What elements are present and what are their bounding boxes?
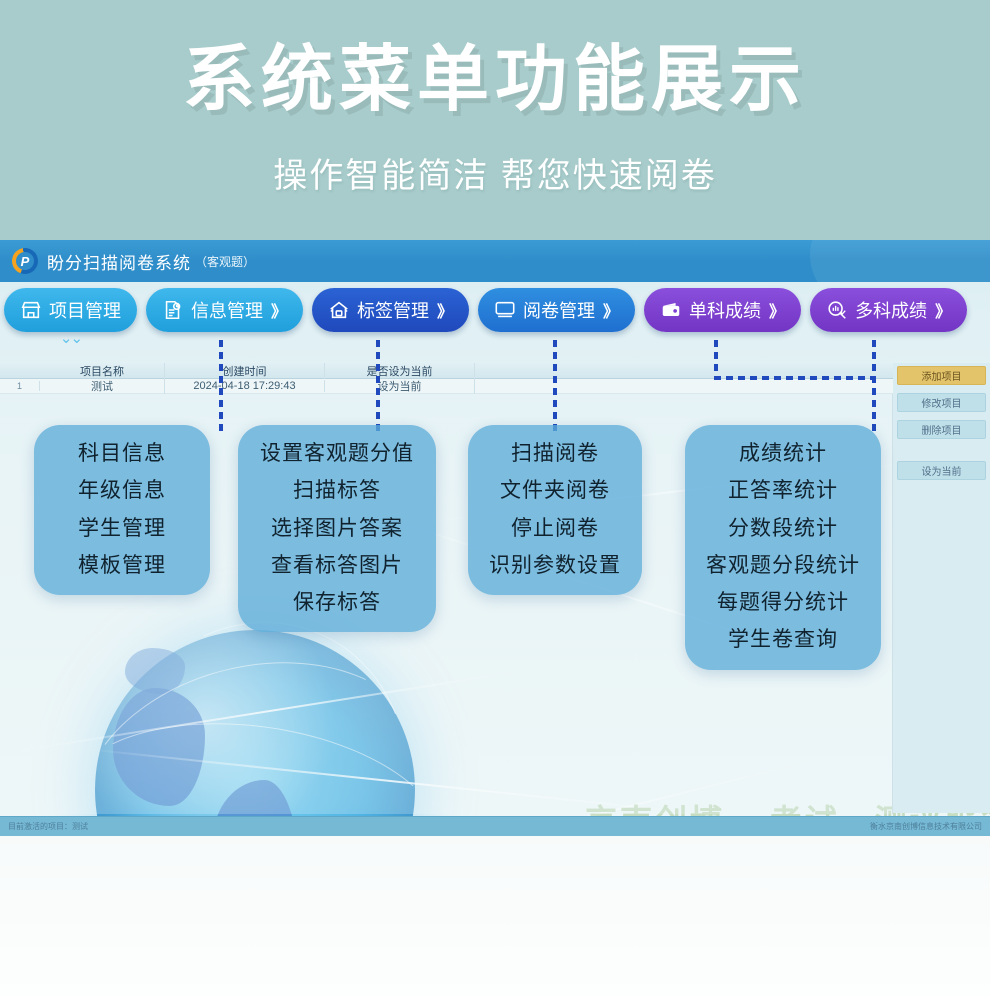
marking-menu: 扫描阅卷 文件夹阅卷 停止阅卷 识别参数设置 [468,425,642,595]
menu-item[interactable]: 查看标答图片 [271,553,403,579]
tab-label: 阅卷管理 [523,297,595,323]
status-bar: 目前激活的项目：测试 衡水京南创博信息技术有限公司 [0,816,990,836]
row-created-time: 2024-04-18 17:29:43 [165,380,325,392]
status-active-project: 目前激活的项目：测试 [8,821,88,832]
menu-item[interactable]: 客观题分段统计 [706,553,860,579]
project-info-menu: 科目信息 年级信息 学生管理 模板管理 [34,425,210,595]
menu-item[interactable]: 保存标答 [293,590,381,616]
connector-line-tag [376,340,380,432]
row-index: 1 [0,381,40,391]
menu-item[interactable]: 学生管理 [78,516,166,542]
chevron-double-down-icon: ⌄⌄ [60,331,81,346]
row-project-name: 测试 [40,378,165,394]
connector-line-horizontal [714,376,876,380]
tab-label: 信息管理 [191,297,263,323]
wallet-icon [660,299,682,321]
menu-item[interactable]: 停止阅卷 [511,516,599,542]
tab-label: 单科成绩 [689,297,761,323]
monitor-icon [494,299,516,321]
chevron-right-icon: 》 [603,298,619,322]
project-action-panel: 添加项目 修改项目 删除项目 设为当前 [893,363,990,813]
hero-banner: 系统菜单功能展示 操作智能简洁 帮您快速阅卷 [0,0,990,240]
connector-line-single-score [714,340,718,378]
tab-label: 多科成绩 [855,297,927,323]
row-set-current[interactable]: 设为当前 [325,378,475,394]
menu-item[interactable]: 选择图片答案 [271,516,403,542]
tab-marking-management[interactable]: 阅卷管理 》 [478,288,635,332]
tab-project-management[interactable]: 项目管理 ⌄⌄ [4,288,137,332]
table-header-cell: 创建时间 [165,363,325,379]
chart-search-icon [826,299,848,321]
connector-line-info [219,340,223,432]
status-company-name: 衡水京南创博信息技术有限公司 [870,821,982,832]
menu-item[interactable]: 每题得分统计 [717,590,849,616]
main-navigation: 项目管理 ⌄⌄ 信息管理 》 标签管理 》 [0,282,990,338]
answer-tag-menu: 设置客观题分值 扫描标答 选择图片答案 查看标答图片 保存标答 [238,425,436,632]
hero-title: 系统菜单功能展示 [183,43,807,119]
chevron-right-icon: 》 [935,298,951,322]
logo-letter: P [21,255,30,268]
tab-answer-tag-management[interactable]: 标签管理 》 [312,288,469,332]
delete-project-button[interactable]: 删除项目 [897,420,986,439]
document-clock-icon [162,299,184,321]
chevron-right-icon: 》 [437,298,453,322]
store-icon [20,299,42,321]
menu-item[interactable]: 年级信息 [78,478,166,504]
application-window: P 盼分扫描阅卷系统 （客观题） 项目名称 创建时间 是否设为当前 1 [0,240,990,836]
table-header-cell: 项目名称 [40,363,165,379]
connector-line-marking [553,340,557,432]
chevron-right-icon: 》 [271,298,287,322]
menu-item[interactable]: 分数段统计 [728,516,838,542]
edit-project-button[interactable]: 修改项目 [897,393,986,412]
menu-item[interactable]: 成绩统计 [739,441,827,467]
score-stats-menu: 成绩统计 正答率统计 分数段统计 客观题分段统计 每题得分统计 学生卷查询 [685,425,881,670]
menu-item[interactable]: 模板管理 [78,553,166,579]
table-row[interactable]: 1 测试 2024-04-18 17:29:43 设为当前 [0,379,893,394]
set-current-button[interactable]: 设为当前 [897,461,986,480]
table-header-cell: 是否设为当前 [325,363,475,379]
tab-single-subject-score[interactable]: 单科成绩 》 [644,288,801,332]
menu-item[interactable]: 文件夹阅卷 [500,478,610,504]
menu-item[interactable]: 设置客观题分值 [260,441,414,467]
menu-item[interactable]: 科目信息 [78,441,166,467]
menu-item[interactable]: 学生卷查询 [728,627,838,653]
chevron-right-icon: 》 [769,298,785,322]
connector-line-multi-score [872,340,876,432]
home-tag-icon [328,299,350,321]
tab-information-management[interactable]: 信息管理 》 [146,288,303,332]
menu-item[interactable]: 识别参数设置 [489,553,621,579]
tab-label: 标签管理 [357,297,429,323]
tab-label: 项目管理 [49,297,121,323]
menu-item[interactable]: 扫描标答 [293,478,381,504]
hero-subtitle: 操作智能简洁 帮您快速阅卷 [273,148,716,197]
tab-multi-subject-score[interactable]: 多科成绩 》 [810,288,967,332]
add-project-button[interactable]: 添加项目 [897,366,986,385]
menu-item[interactable]: 扫描阅卷 [511,441,599,467]
menu-item[interactable]: 正答率统计 [728,478,838,504]
